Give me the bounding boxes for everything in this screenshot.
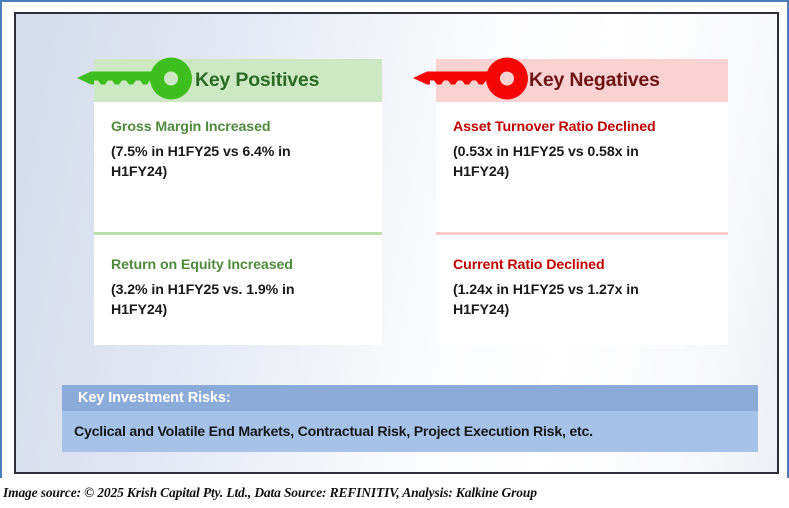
item-detail: (0.53x in H1FY25 vs 0.58x in H1FY24) bbox=[453, 142, 685, 182]
item-detail: (7.5% in H1FY25 vs 6.4% in H1FY24) bbox=[111, 142, 343, 182]
footer-text: Image source: © 2025 Krish Capital Pty. … bbox=[0, 485, 537, 501]
key-negatives-title: Key Negatives bbox=[529, 69, 660, 92]
risks-title: Key Investment Risks: bbox=[78, 390, 231, 406]
key-icon bbox=[67, 56, 195, 105]
key-negatives-column: Key Negatives Asset Turnover Ratio Decli… bbox=[436, 59, 728, 345]
slide-page: Key Positives Gross Margin Increased (7.… bbox=[0, 0, 789, 508]
key-positives-item-1: Gross Margin Increased (7.5% in H1FY25 v… bbox=[94, 102, 382, 232]
key-positives-card: Gross Margin Increased (7.5% in H1FY25 v… bbox=[94, 102, 382, 345]
key-icon bbox=[403, 56, 531, 105]
item-heading: Gross Margin Increased bbox=[111, 119, 382, 137]
image-source-footer: Image source: © 2025 Krish Capital Pty. … bbox=[0, 478, 789, 508]
key-positives-title: Key Positives bbox=[195, 69, 319, 92]
risks-header: Key Investment Risks: bbox=[62, 385, 758, 411]
key-investment-risks-banner: Key Investment Risks: Cyclical and Volat… bbox=[62, 385, 758, 452]
key-negatives-card: Asset Turnover Ratio Declined (0.53x in … bbox=[436, 102, 728, 345]
key-positives-header: Key Positives bbox=[94, 59, 382, 102]
risks-body: Cyclical and Volatile End Markets, Contr… bbox=[62, 411, 758, 452]
slide-canvas: Key Positives Gross Margin Increased (7.… bbox=[14, 12, 779, 474]
key-negatives-header: Key Negatives bbox=[436, 59, 728, 102]
item-heading: Current Ratio Declined bbox=[453, 257, 728, 275]
item-heading: Asset Turnover Ratio Declined bbox=[453, 119, 728, 137]
item-detail: (1.24x in H1FY25 vs 1.27x in H1FY24) bbox=[453, 280, 685, 320]
key-negatives-item-2: Current Ratio Declined (1.24x in H1FY25 … bbox=[436, 240, 728, 345]
item-heading: Return on Equity Increased bbox=[111, 257, 382, 275]
risks-text: Cyclical and Volatile End Markets, Contr… bbox=[74, 424, 593, 440]
key-positives-column: Key Positives Gross Margin Increased (7.… bbox=[94, 59, 382, 345]
key-negatives-item-1: Asset Turnover Ratio Declined (0.53x in … bbox=[436, 102, 728, 232]
key-positives-item-2: Return on Equity Increased (3.2% in H1FY… bbox=[94, 240, 382, 345]
item-detail: (3.2% in H1FY25 vs. 1.9% in H1FY24) bbox=[111, 280, 343, 320]
